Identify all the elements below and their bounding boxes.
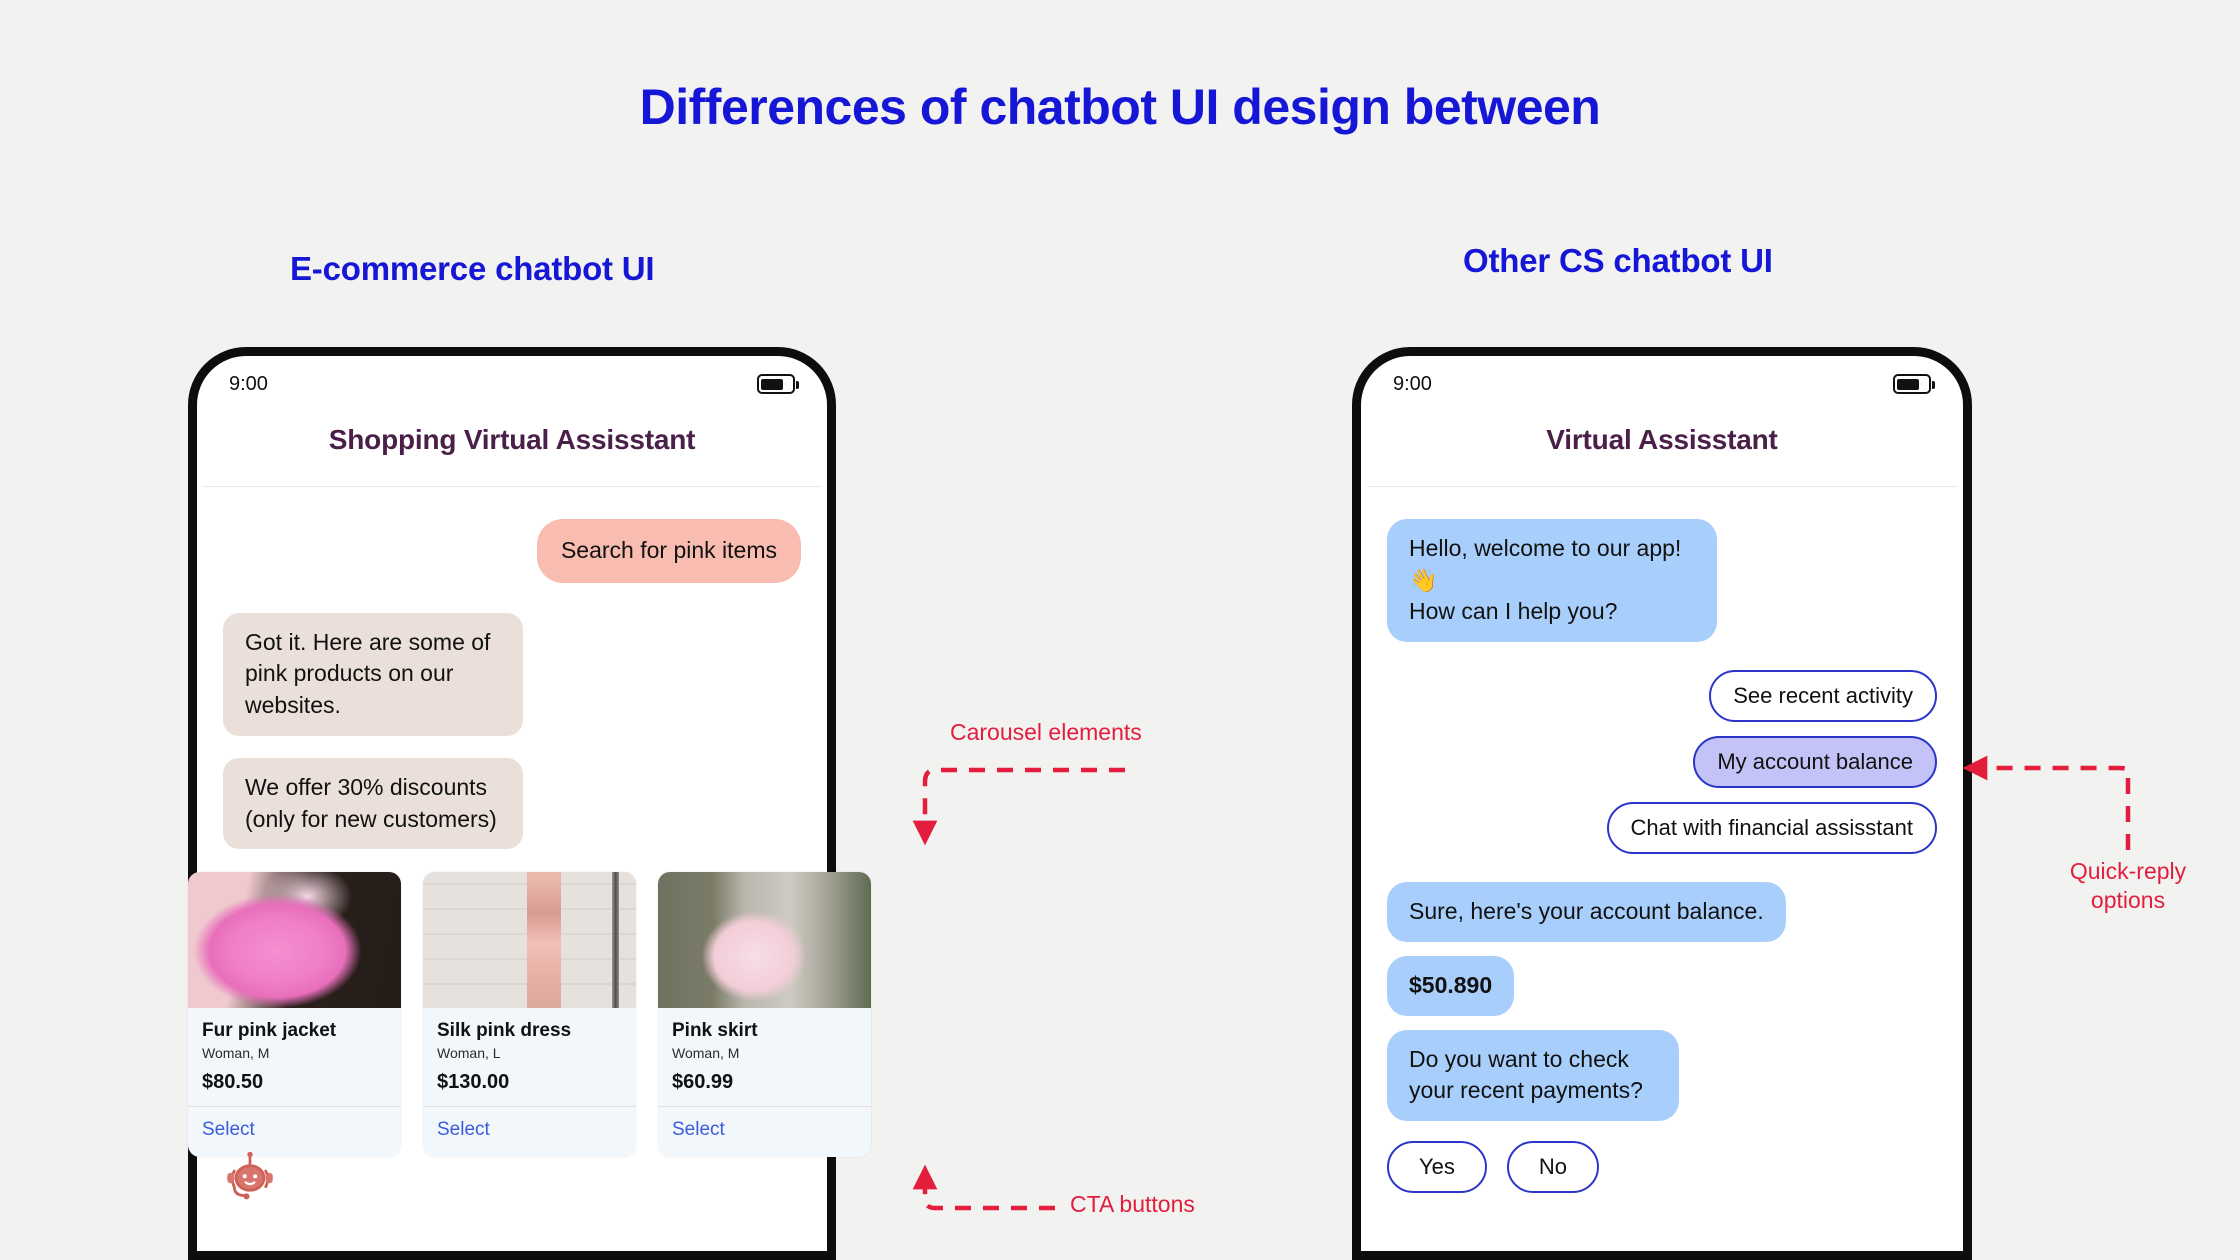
status-time: 9:00 [1393, 373, 1432, 396]
product-price: $130.00 [437, 1071, 622, 1094]
section-heading-other-cs: Other CS chatbot UI [1463, 242, 1773, 280]
product-image-pink-skirt [658, 872, 871, 1008]
message-bubble-bot: Do you want to check your recent payment… [1387, 1030, 1679, 1121]
message-bubble-bot: Hello, welcome to our app! 👋 How can I h… [1387, 519, 1717, 642]
product-carousel[interactable]: Fur pink jacket Woman, M $80.50 Select S… [188, 872, 871, 1157]
product-info: Fur pink jacket Woman, M $80.50 [188, 1008, 401, 1106]
message-row-user: Search for pink items [197, 519, 827, 583]
annotation-quick-reply-line2: options [2038, 886, 2218, 915]
product-card[interactable]: Pink skirt Woman, M $60.99 Select [658, 872, 871, 1157]
message-row-bot: Hello, welcome to our app! 👋 How can I h… [1361, 519, 1963, 642]
quick-reply-yes[interactable]: Yes [1387, 1141, 1487, 1193]
select-button[interactable]: Select [658, 1106, 871, 1157]
select-button[interactable]: Select [188, 1106, 401, 1157]
chat-thread-ecommerce: Search for pink items Got it. Here are s… [197, 519, 827, 849]
quick-reply-row: Chat with financial assisstant [1361, 802, 1963, 854]
status-time: 9:00 [229, 373, 268, 396]
product-card[interactable]: Fur pink jacket Woman, M $80.50 Select [188, 872, 401, 1157]
message-row-bot: Sure, here's your account balance. [1361, 882, 1963, 942]
message-row-bot: Got it. Here are some of pink products o… [197, 613, 827, 736]
product-meta: Woman, M [672, 1045, 857, 1061]
product-info: Silk pink dress Woman, L $130.00 [423, 1008, 636, 1106]
product-price: $80.50 [202, 1071, 387, 1094]
quick-reply-my-account-balance[interactable]: My account balance [1693, 736, 1937, 788]
chat-header-title: Shopping Virtual Assisstant [197, 412, 827, 486]
product-name: Silk pink dress [437, 1020, 622, 1042]
section-heading-ecommerce: E-commerce chatbot UI [290, 250, 654, 288]
product-price: $60.99 [672, 1071, 857, 1094]
chat-header-title: Virtual Assisstant [1361, 412, 1963, 486]
arrow-carousel [925, 770, 1125, 838]
header-divider [1367, 486, 1957, 487]
robot-icon [222, 1150, 278, 1206]
message-bubble-user: Search for pink items [537, 519, 801, 583]
message-bubble-bot: We offer 30% discounts (only for new cus… [223, 758, 523, 849]
product-card[interactable]: Silk pink dress Woman, L $130.00 Select [423, 872, 636, 1157]
status-bar: 9:00 [1361, 356, 1963, 412]
product-info: Pink skirt Woman, M $60.99 [658, 1008, 871, 1106]
arrow-cta [925, 1172, 1055, 1208]
status-bar: 9:00 [197, 356, 827, 412]
product-image-fur-pink-jacket [188, 872, 401, 1008]
annotation-carousel-elements: Carousel elements [950, 718, 1142, 747]
annotation-cta-buttons: CTA buttons [1070, 1190, 1195, 1219]
message-bubble-balance: $50.890 [1387, 956, 1514, 1016]
product-meta: Woman, M [202, 1045, 387, 1061]
chat-thread-other-cs: Hello, welcome to our app! 👋 How can I h… [1361, 519, 1963, 1193]
quick-reply-row: See recent activity [1361, 670, 1963, 722]
header-divider [203, 486, 821, 487]
quick-reply-chat-with-financial-assisstant[interactable]: Chat with financial assisstant [1607, 802, 1937, 854]
select-button[interactable]: Select [423, 1106, 636, 1157]
battery-icon [1893, 374, 1931, 394]
product-name: Pink skirt [672, 1020, 857, 1042]
quick-reply-see-recent-activity[interactable]: See recent activity [1709, 670, 1937, 722]
annotation-quick-reply-options: Quick-reply options [2038, 857, 2218, 915]
message-row-bot: $50.890 [1361, 956, 1963, 1016]
message-bubble-bot: Sure, here's your account balance. [1387, 882, 1786, 942]
product-name: Fur pink jacket [202, 1020, 387, 1042]
product-meta: Woman, L [437, 1045, 622, 1061]
battery-icon [757, 374, 795, 394]
quick-reply-row: My account balance [1361, 736, 1963, 788]
slide-canvas: Differences of chatbot UI design between… [0, 0, 2240, 1260]
product-image-silk-pink-dress [423, 872, 636, 1008]
message-row-bot: We offer 30% discounts (only for new cus… [197, 758, 827, 849]
message-bubble-bot: Got it. Here are some of pink products o… [223, 613, 523, 736]
page-title: Differences of chatbot UI design between [0, 78, 2240, 136]
phone-mockup-other-cs: 9:00 Virtual Assisstant Hello, welcome t… [1352, 347, 1972, 1260]
quick-reply-no[interactable]: No [1507, 1141, 1599, 1193]
message-row-bot: Do you want to check your recent payment… [1361, 1030, 1963, 1121]
annotation-quick-reply-line1: Quick-reply [2038, 857, 2218, 886]
arrow-quick-reply [1970, 768, 2128, 850]
yes-no-row: Yes No [1361, 1141, 1963, 1193]
